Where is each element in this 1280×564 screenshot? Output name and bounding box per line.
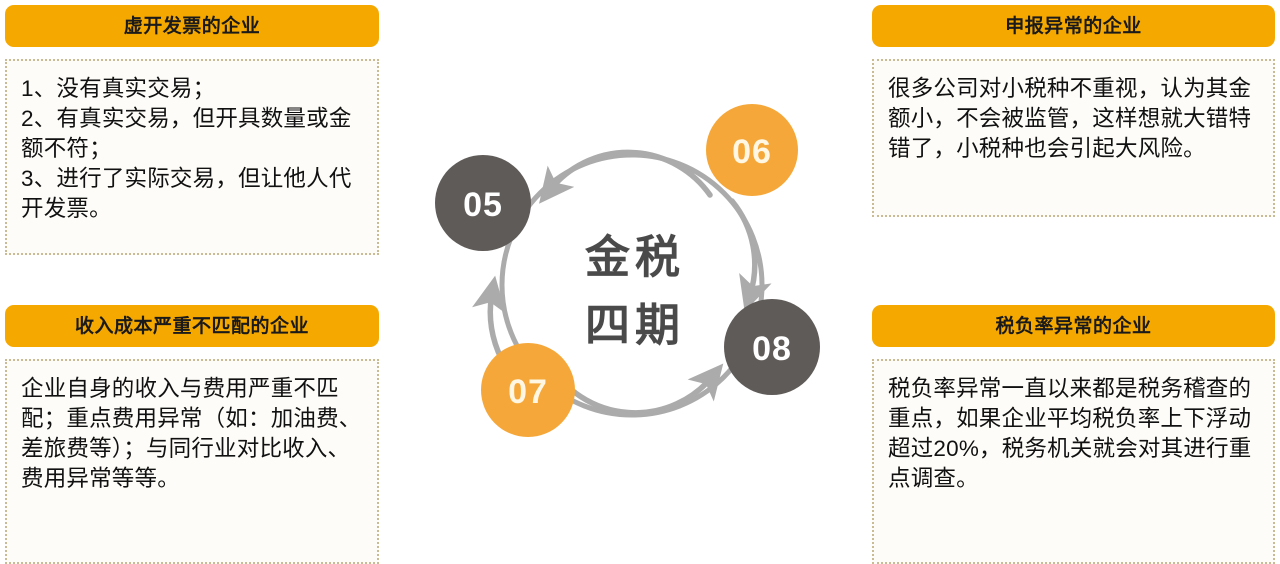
card-declaration: 申报异常的企业 很多公司对小税种不重视，认为其金额小，不会被监管，这样想就大错特… bbox=[872, 5, 1275, 217]
arrow-top bbox=[550, 152, 710, 195]
node-08[interactable]: 08 bbox=[724, 299, 820, 395]
card-cost-mismatch: 收入成本严重不匹配的企业 企业自身的收入与费用严重不匹配；重点费用异常（如：加油… bbox=[5, 305, 379, 564]
node-05[interactable]: 05 bbox=[435, 155, 531, 251]
cycle-diagram: 05 06 07 08 金税 四期 bbox=[400, 35, 860, 535]
card-declaration-title: 申报异常的企业 bbox=[1005, 17, 1142, 36]
center-title-line2: 四期 bbox=[585, 300, 685, 351]
infographic-canvas: 虚开发票的企业 1、没有真实交易； 2、有真实交易，但开具数量或金额不符； 3、… bbox=[0, 0, 1280, 564]
node-08-label: 08 bbox=[752, 330, 792, 368]
card-fake-invoice: 虚开发票的企业 1、没有真实交易； 2、有真实交易，但开具数量或金额不符； 3、… bbox=[5, 5, 379, 255]
node-07-label: 07 bbox=[508, 373, 548, 411]
center-title-line1: 金税 bbox=[585, 232, 685, 283]
card-declaration-header: 申报异常的企业 bbox=[872, 5, 1275, 47]
card-tax-burden-header: 税负率异常的企业 bbox=[872, 305, 1275, 347]
card-tax-burden-title: 税负率异常的企业 bbox=[995, 317, 1151, 336]
node-07[interactable]: 07 bbox=[481, 343, 575, 437]
card-cost-mismatch-body: 企业自身的收入与费用严重不匹配；重点费用异常（如：加油费、差旅费等）；与同行业对… bbox=[5, 359, 379, 564]
card-declaration-body: 很多公司对小税种不重视，认为其金额小，不会被监管，这样想就大错特错了，小税种也会… bbox=[872, 59, 1275, 217]
card-fake-invoice-body: 1、没有真实交易； 2、有真实交易，但开具数量或金额不符； 3、进行了实际交易，… bbox=[5, 59, 379, 255]
card-cost-mismatch-title: 收入成本严重不匹配的企业 bbox=[75, 317, 309, 336]
card-tax-burden: 税负率异常的企业 税负率异常一直以来都是税务稽查的重点，如果企业平均税负率上下浮… bbox=[872, 305, 1275, 564]
node-06-label: 06 bbox=[732, 133, 772, 171]
card-fake-invoice-header: 虚开发票的企业 bbox=[5, 5, 379, 47]
card-fake-invoice-title: 虚开发票的企业 bbox=[124, 17, 261, 36]
node-05-label: 05 bbox=[463, 186, 503, 224]
node-06[interactable]: 06 bbox=[706, 104, 798, 196]
arrow-right bbox=[732, 201, 755, 295]
card-cost-mismatch-header: 收入成本严重不匹配的企业 bbox=[5, 305, 379, 347]
card-tax-burden-body: 税负率异常一直以来都是税务稽查的重点，如果企业平均税负率上下浮动超过20%，税务… bbox=[872, 359, 1275, 564]
